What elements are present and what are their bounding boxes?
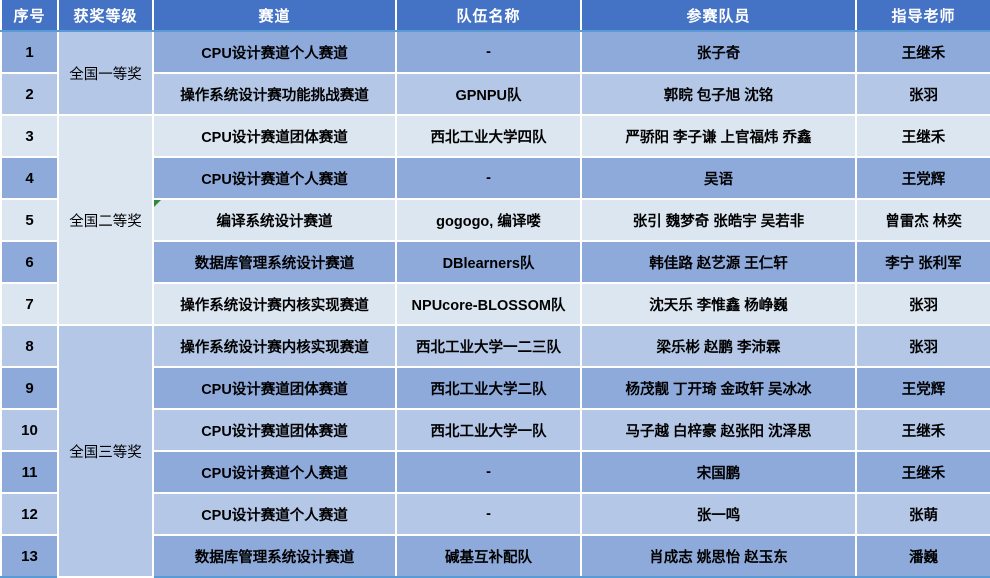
cell-track: 数据库管理系统设计赛道 [153,241,396,283]
header-row: 序号 获奖等级 赛道 队伍名称 参赛队员 指导老师 [1,0,990,31]
cell-team-name: 西北工业大学一二三队 [396,325,581,367]
cell-team-name: 西北工业大学四队 [396,115,581,157]
cell-members: 杨茂靓 丁开琦 金政轩 吴冰冰 [581,367,856,409]
cell-team-name: 西北工业大学一队 [396,409,581,451]
award-results-table: 序号 获奖等级 赛道 队伍名称 参赛队员 指导老师 1全国一等奖CPU设计赛道个… [0,0,990,578]
table-body: 1全国一等奖CPU设计赛道个人赛道-张子奇王继禾2操作系统设计赛功能挑战赛道GP… [1,31,990,577]
cell-track: 操作系统设计赛内核实现赛道 [153,325,396,367]
cell-team-name: NPUcore-BLOSSOM队 [396,283,581,325]
cell-index: 11 [1,451,58,493]
column-header-mentor: 指导老师 [856,0,990,31]
cell-members: 郭睆 包子旭 沈铭 [581,73,856,115]
cell-mentor: 王继禾 [856,451,990,493]
cell-members: 韩佳路 赵艺源 王仁轩 [581,241,856,283]
cell-team-name: - [396,451,581,493]
cell-team-name: - [396,157,581,199]
column-header-index: 序号 [1,0,58,31]
cell-mentor: 王继禾 [856,115,990,157]
cell-index: 10 [1,409,58,451]
cell-award-level: 全国二等奖 [58,115,153,325]
cell-index: 3 [1,115,58,157]
cell-mentor: 潘巍 [856,535,990,577]
cell-track: CPU设计赛道团体赛道 [153,115,396,157]
cell-track: CPU设计赛道团体赛道 [153,367,396,409]
cell-index: 7 [1,283,58,325]
cell-index: 5 [1,199,58,241]
cell-track: 编译系统设计赛道 [153,199,396,241]
cell-mentor: 张羽 [856,325,990,367]
cell-index: 6 [1,241,58,283]
cell-index: 9 [1,367,58,409]
column-header-level: 获奖等级 [58,0,153,31]
cell-index: 8 [1,325,58,367]
cell-members: 肖成志 姚思怡 赵玉东 [581,535,856,577]
cell-members: 严骄阳 李子谦 上官福炜 乔鑫 [581,115,856,157]
cell-award-level: 全国三等奖 [58,325,153,577]
cell-mentor: 王党辉 [856,157,990,199]
cell-team-name: 碱基互补配队 [396,535,581,577]
cell-members: 吴语 [581,157,856,199]
cell-track: CPU设计赛道个人赛道 [153,157,396,199]
column-header-member: 参赛队员 [581,0,856,31]
cell-members: 马子越 白梓豪 赵张阳 沈泽思 [581,409,856,451]
cell-team-name: 西北工业大学二队 [396,367,581,409]
cell-mentor: 曾雷杰 林奕 [856,199,990,241]
cell-team-name: - [396,31,581,73]
cell-mentor: 李宁 张利军 [856,241,990,283]
cell-award-level: 全国一等奖 [58,31,153,115]
cell-members: 张子奇 [581,31,856,73]
cell-index: 2 [1,73,58,115]
table-header: 序号 获奖等级 赛道 队伍名称 参赛队员 指导老师 [1,0,990,31]
cell-mentor: 王继禾 [856,31,990,73]
table-row: 8全国三等奖操作系统设计赛内核实现赛道西北工业大学一二三队梁乐彬 赵鹏 李沛霖张… [1,325,990,367]
cell-mentor: 王党辉 [856,367,990,409]
cell-index: 13 [1,535,58,577]
cell-mentor: 王继禾 [856,409,990,451]
cell-track: CPU设计赛道团体赛道 [153,409,396,451]
cell-index: 12 [1,493,58,535]
column-header-team: 队伍名称 [396,0,581,31]
cell-members: 梁乐彬 赵鹏 李沛霖 [581,325,856,367]
cell-members: 沈天乐 李惟鑫 杨峥巍 [581,283,856,325]
cell-track: 操作系统设计赛功能挑战赛道 [153,73,396,115]
cell-members: 宋国鹏 [581,451,856,493]
cell-track: CPU设计赛道个人赛道 [153,493,396,535]
column-header-track: 赛道 [153,0,396,31]
cell-mentor: 张羽 [856,283,990,325]
cell-team-name: gogogo, 编译喽 [396,199,581,241]
cell-index: 1 [1,31,58,73]
cell-team-name: - [396,493,581,535]
cell-mentor: 张萌 [856,493,990,535]
cell-team-name: DBlearners队 [396,241,581,283]
cell-members: 张一鸣 [581,493,856,535]
cell-index: 4 [1,157,58,199]
cell-track: 数据库管理系统设计赛道 [153,535,396,577]
cell-track: CPU设计赛道个人赛道 [153,451,396,493]
cell-members: 张引 魏梦奇 张皓宇 吴若非 [581,199,856,241]
table-row: 1全国一等奖CPU设计赛道个人赛道-张子奇王继禾 [1,31,990,73]
cell-team-name: GPNPU队 [396,73,581,115]
cell-track: CPU设计赛道个人赛道 [153,31,396,73]
cell-track: 操作系统设计赛内核实现赛道 [153,283,396,325]
cell-mentor: 张羽 [856,73,990,115]
table-row: 3全国二等奖CPU设计赛道团体赛道西北工业大学四队严骄阳 李子谦 上官福炜 乔鑫… [1,115,990,157]
